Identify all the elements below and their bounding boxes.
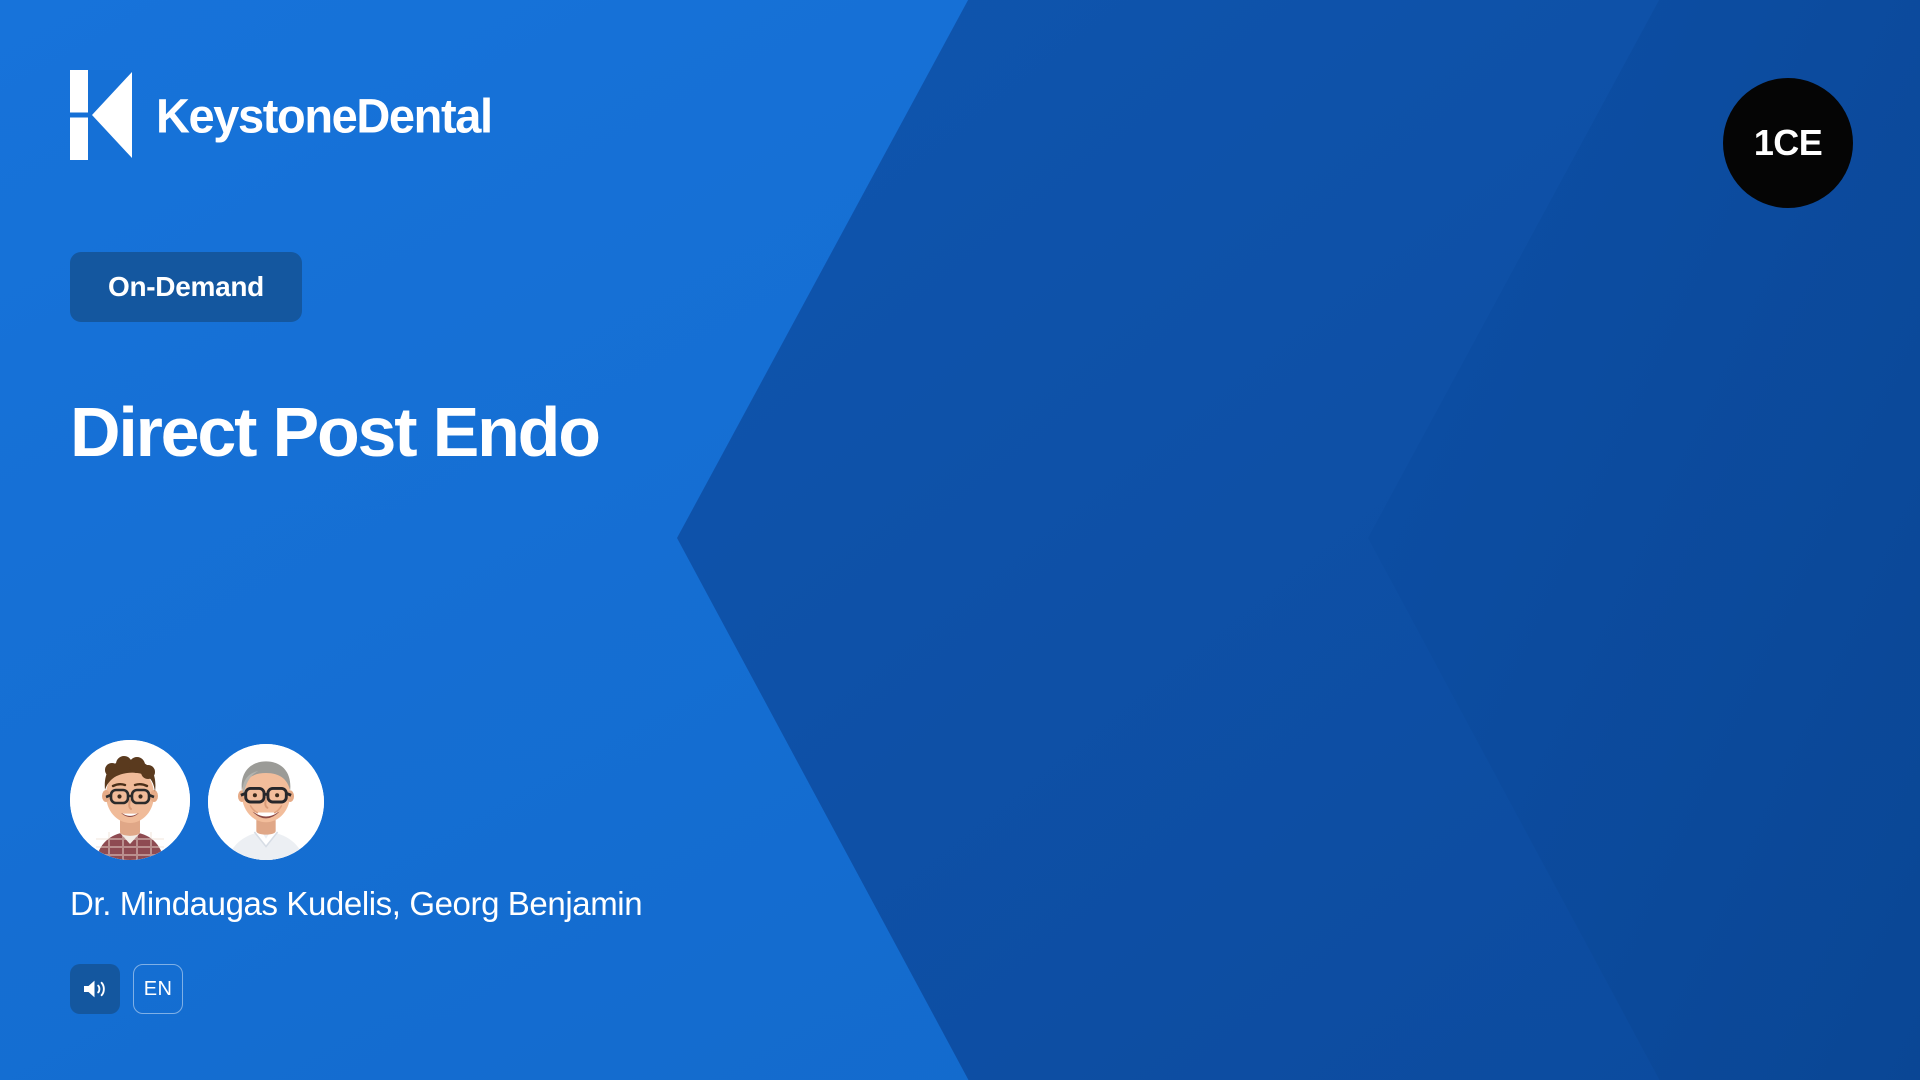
audio-toggle-button[interactable] (70, 964, 120, 1014)
speaker-volume-icon (82, 977, 108, 1001)
brand-logo-lockup[interactable]: KeystoneDental (70, 70, 492, 160)
ce-credit-badge-label: 1CE (1754, 125, 1822, 161)
headshot-photo-icon (208, 744, 324, 860)
course-title: Direct Post Endo (70, 395, 599, 471)
keystone-k-chevron-icon (70, 70, 132, 160)
media-controls: EN (70, 964, 183, 1014)
presenter-avatar-row (70, 740, 642, 860)
headshot-photo-icon (70, 740, 190, 860)
course-format-label: On-Demand (108, 273, 264, 301)
course-hero-card: KeystoneDental 1CE On-Demand Direct Post… (0, 0, 1920, 1080)
avatar[interactable] (208, 744, 324, 860)
language-selector-label: EN (144, 979, 173, 999)
presenter-names: Dr. Mindaugas Kudelis, Georg Benjamin (70, 884, 642, 924)
avatar[interactable] (70, 740, 190, 860)
brand-wordmark: KeystoneDental (156, 91, 492, 139)
ce-credit-badge: 1CE (1723, 78, 1853, 208)
language-selector-button[interactable]: EN (133, 964, 183, 1014)
course-format-badge: On-Demand (70, 252, 302, 322)
presenters-block: Dr. Mindaugas Kudelis, Georg Benjamin (70, 740, 642, 924)
